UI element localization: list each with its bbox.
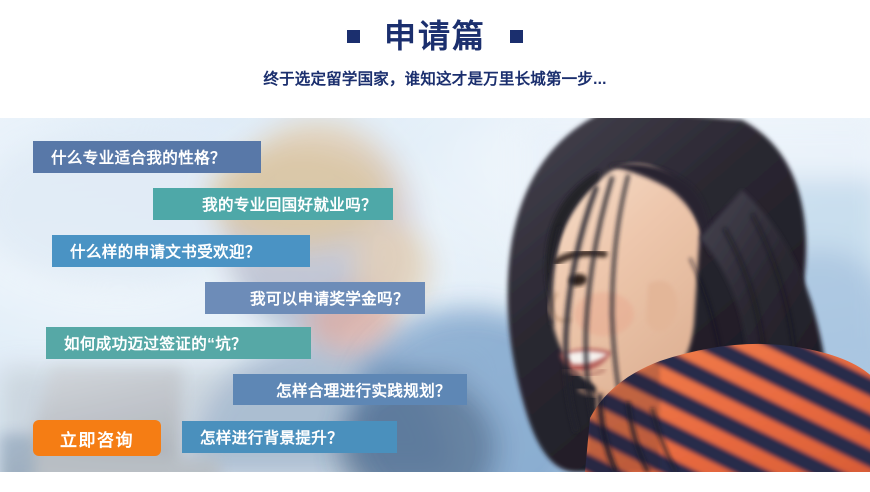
- bubble-label: 如何成功迈过签证的“坑？: [64, 332, 247, 354]
- hero-photo: 什么专业适合我的性格？ 我的专业回国好就业吗？ 什么样的申请文书受欢迎？ 我可以…: [0, 118, 870, 472]
- square-marker-left-icon: [347, 30, 360, 43]
- page-subtitle: 终于选定留学国家，谁知这才是万里长城第一步...: [263, 67, 606, 89]
- page-header: 申请篇 终于选定留学国家，谁知这才是万里长城第一步...: [0, 0, 870, 118]
- bubble-label: 我的专业回国好就业吗？: [202, 193, 377, 215]
- bubble-label: 怎样进行背景提升？: [200, 426, 343, 448]
- bubble-label: 我可以申请奖学金吗？: [250, 287, 409, 309]
- question-bubble-list: 什么专业适合我的性格？ 我的专业回国好就业吗？ 什么样的申请文书受欢迎？ 我可以…: [0, 118, 870, 472]
- bubble-scholarship[interactable]: 我可以申请奖学金吗？: [205, 282, 425, 314]
- bubble-major-personality[interactable]: 什么专业适合我的性格？: [33, 141, 261, 173]
- bubble-employment-return[interactable]: 我的专业回国好就业吗？: [153, 188, 393, 220]
- bubble-label: 什么样的申请文书受欢迎？: [70, 240, 261, 262]
- bubble-label: 怎样合理进行实践规划？: [276, 379, 451, 401]
- page-title: 申请篇: [384, 20, 486, 52]
- bubble-label: 什么专业适合我的性格？: [51, 146, 226, 168]
- footer-strip: [0, 472, 870, 492]
- bubble-background-boost[interactable]: 怎样进行背景提升？: [182, 421, 397, 453]
- bubble-visa-pitfalls[interactable]: 如何成功迈过签证的“坑？: [46, 327, 311, 359]
- square-marker-right-icon: [510, 30, 523, 43]
- consult-now-button[interactable]: 立即咨询: [33, 420, 161, 456]
- bubble-internship-plan[interactable]: 怎样合理进行实践规划？: [233, 374, 467, 405]
- consult-now-label: 立即咨询: [60, 426, 134, 451]
- bubble-application-essay[interactable]: 什么样的申请文书受欢迎？: [52, 235, 310, 267]
- title-row: 申请篇: [347, 20, 523, 52]
